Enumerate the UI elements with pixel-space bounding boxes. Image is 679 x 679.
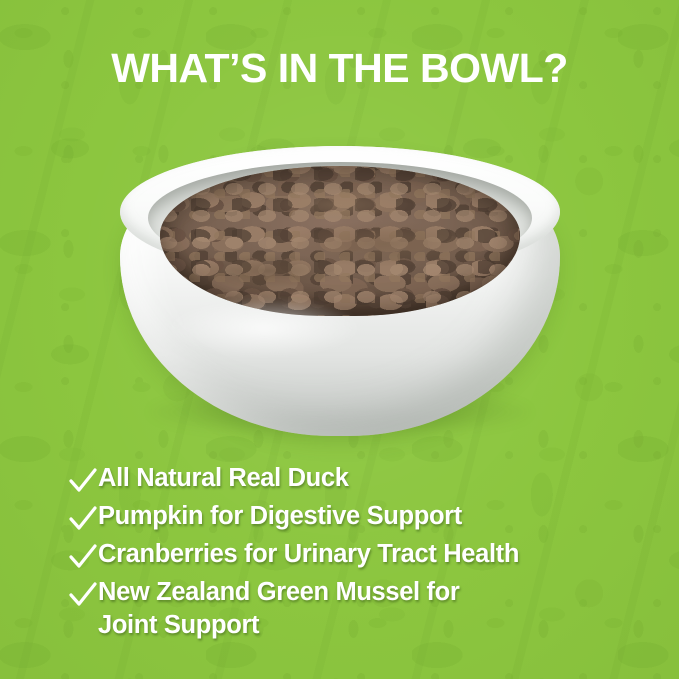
food-edge-shading xyxy=(160,166,520,316)
product-feature-panel: WHAT’S IN THE BOWL? All Natural Real Duc… xyxy=(0,0,679,679)
benefit-label: Cranberries for Urinary Tract Health xyxy=(98,538,519,571)
list-item: Pumpkin for Digestive Support xyxy=(68,500,659,535)
bowl-specular-highlight xyxy=(164,298,364,358)
bowl-photo xyxy=(112,138,567,443)
benefit-label: All Natural Real Duck xyxy=(98,462,349,495)
list-item: New Zealand Green Mussel for Joint Suppo… xyxy=(68,576,659,641)
benefit-label: Pumpkin for Digestive Support xyxy=(98,500,462,533)
benefits-list: All Natural Real Duck Pumpkin for Digest… xyxy=(68,462,659,644)
page-title: WHAT’S IN THE BOWL? xyxy=(0,46,679,91)
check-icon xyxy=(68,542,98,573)
list-item: Cranberries for Urinary Tract Health xyxy=(68,538,659,573)
list-item: All Natural Real Duck xyxy=(68,462,659,497)
check-icon xyxy=(68,580,98,611)
check-icon xyxy=(68,504,98,535)
check-icon xyxy=(68,466,98,497)
benefit-label: New Zealand Green Mussel for Joint Suppo… xyxy=(98,576,459,641)
wet-food-mound xyxy=(160,166,520,316)
